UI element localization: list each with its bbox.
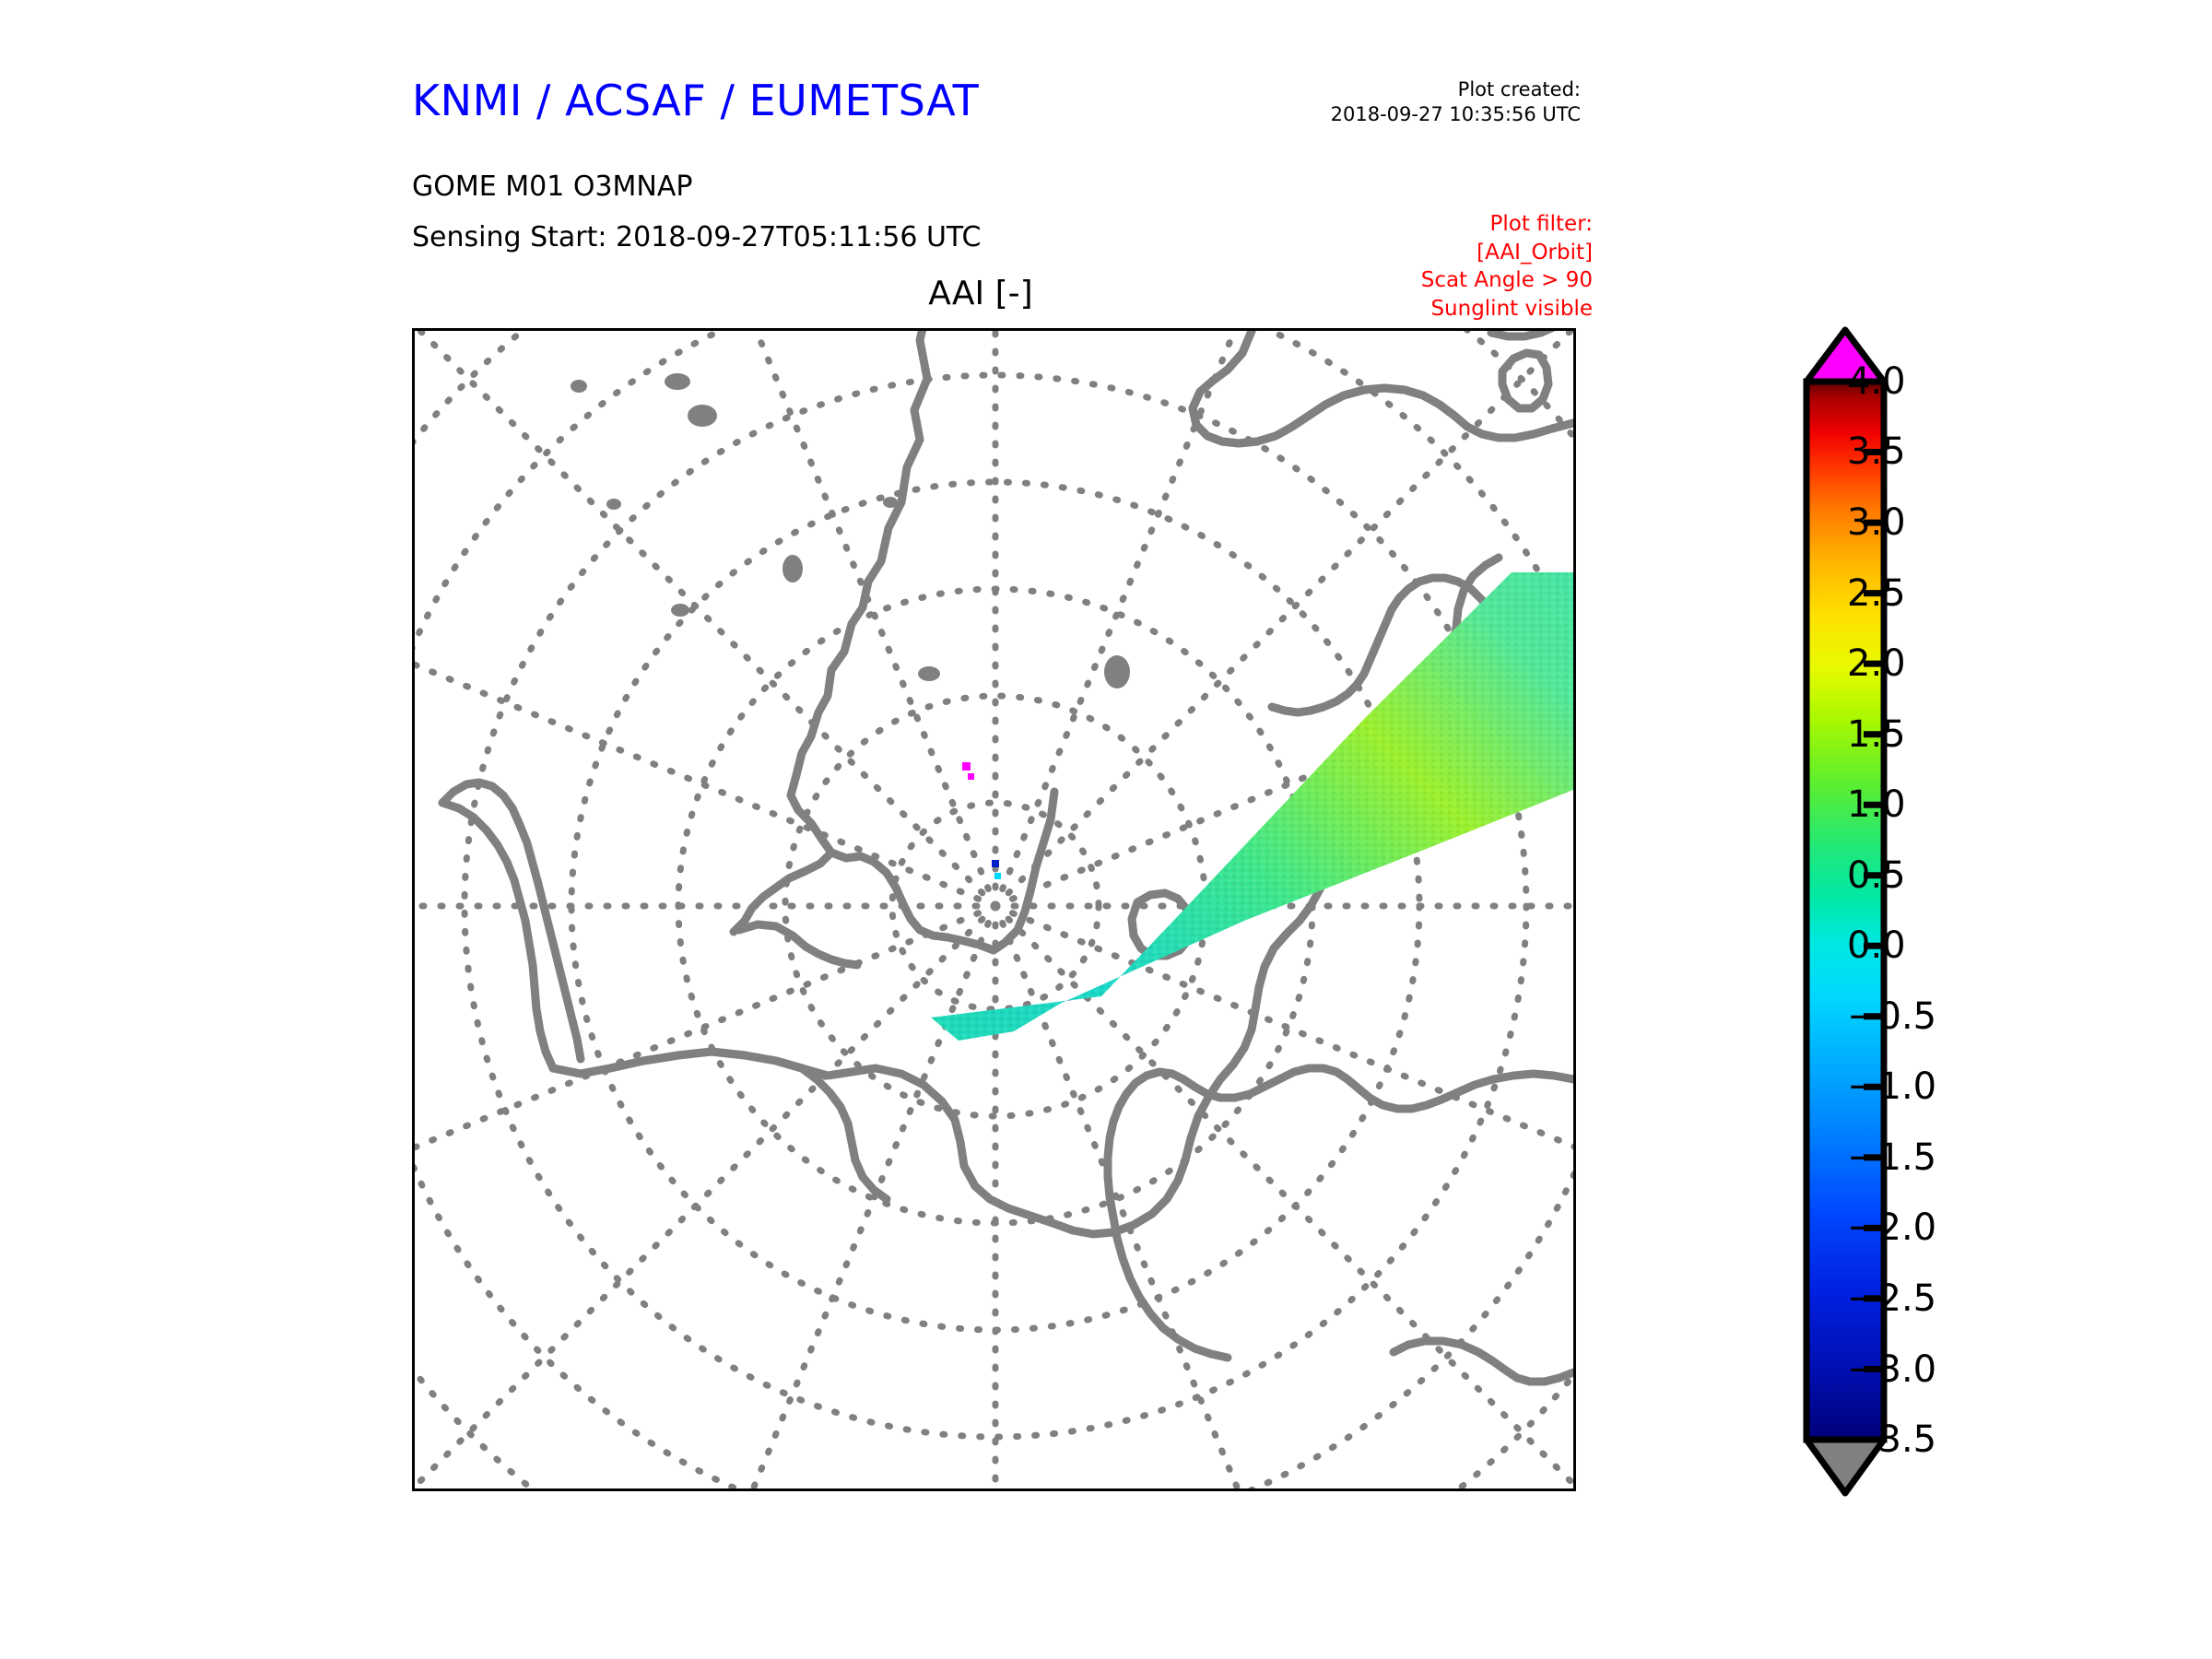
colorbar-label-neg-3-5: −3.5 [1847, 1421, 1936, 1458]
coastline-new-zealand-north [1517, 1372, 1573, 1382]
colorbar-label-neg-1-5: −1.5 [1847, 1139, 1936, 1176]
organisation-title: KNMI / ACSAF / EUMETSAT [412, 76, 979, 125]
coastline-peninsula-east [442, 782, 581, 1059]
colorbar-label-2-5: 2.5 [1847, 575, 1906, 612]
colorbar[interactable]: 4.0 3.5 3.0 2.5 2.0 1.5 1.0 0.5 0.0 −0.5… [1795, 324, 2183, 1504]
colorbar-label-neg-1-0: −1.0 [1847, 1068, 1936, 1105]
colorbar-label-3-5: 3.5 [1847, 433, 1906, 470]
map-title-text: AAI [-] [928, 275, 1032, 312]
colorbar-label-neg-2-0: −2.0 [1847, 1209, 1936, 1246]
coastline-australia [1491, 331, 1573, 336]
map-canvas [415, 331, 1573, 1488]
plot-created-value: 2018-09-27 10:35:56 UTC [1331, 102, 1581, 127]
colorbar-label-0-0: 0.0 [1847, 927, 1906, 964]
colorbar-label-0-5: 0.5 [1847, 857, 1906, 894]
map-panel[interactable] [412, 328, 1576, 1491]
plot-filter-name: [AAI_Orbit] [1421, 239, 1593, 267]
product-title: GOME M01 O3MNAP [412, 171, 692, 203]
colorbar-label-1-5: 1.5 [1847, 716, 1906, 753]
map-title: AAI [-] [0, 275, 1576, 312]
coastline-madagascar [1502, 353, 1548, 408]
graticule-meridians [415, 331, 1573, 1488]
coastline-south-america [734, 331, 931, 932]
coastline-antarctic-peninsula [442, 803, 553, 1068]
plot-created-block: Plot created: 2018-09-27 10:35:56 UTC [1331, 77, 1581, 127]
colorbar-label-4-0: 4.0 [1847, 363, 1906, 400]
plot-created-label: Plot created: [1331, 77, 1581, 102]
colorbar-label-3-0: 3.0 [1847, 504, 1906, 541]
coastline-new-zealand-south [1394, 1341, 1517, 1378]
coastline-tierra-del-fuego [739, 924, 857, 965]
colorbar-label-2-0: 2.0 [1847, 645, 1906, 682]
colorbar-label-neg-2-5: −2.5 [1847, 1280, 1936, 1317]
sensing-start-line: Sensing Start: 2018-09-27T05:11:56 UTC [412, 221, 981, 253]
colorbar-label-1-0: 1.0 [1847, 786, 1906, 823]
coastline-australia-south [1108, 1068, 1573, 1358]
colorbar-label-neg-0-5: −0.5 [1847, 998, 1936, 1035]
colorbar-label-neg-3-0: −3.0 [1847, 1351, 1936, 1388]
plot-filter-label: Plot filter: [1421, 210, 1593, 239]
